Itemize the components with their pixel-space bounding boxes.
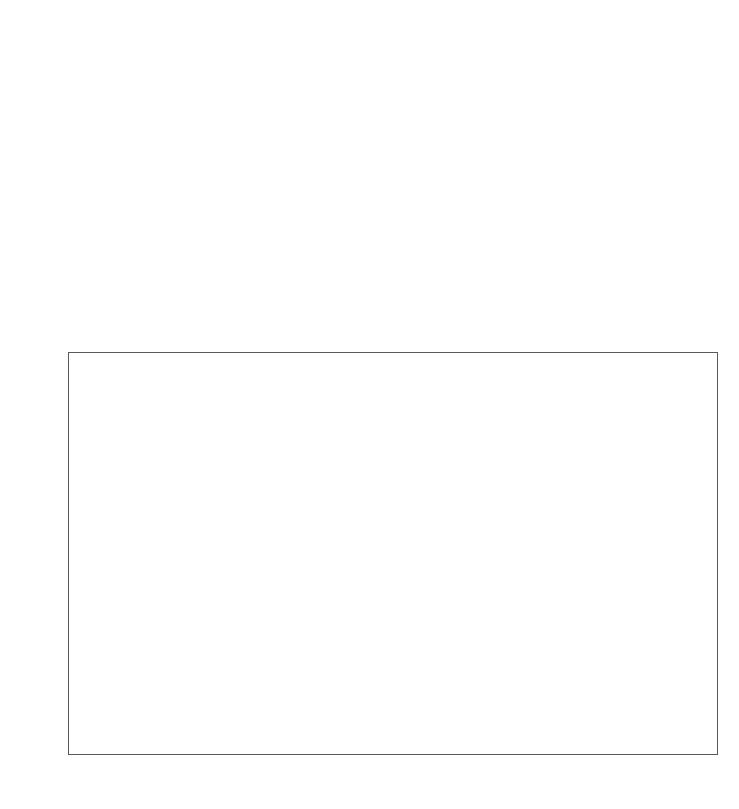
- plot-frame: [68, 352, 718, 755]
- volcano-plot-panel-b: [0, 330, 739, 809]
- figure-root: [0, 0, 739, 809]
- scatter-points-canvas: [69, 353, 718, 755]
- flowchart-panel-a: [0, 48, 739, 248]
